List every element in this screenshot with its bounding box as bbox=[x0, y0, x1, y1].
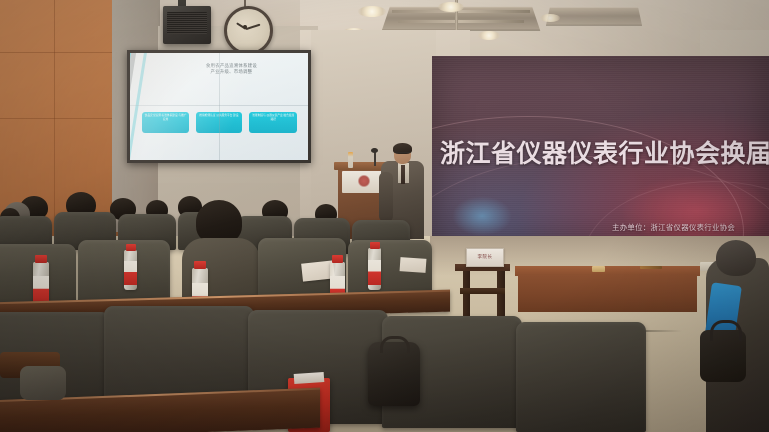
attendee-right-head bbox=[716, 240, 756, 276]
ceiling-audio-speaker bbox=[163, 6, 211, 44]
table-item-notebook bbox=[592, 266, 605, 272]
wall-seam bbox=[0, 52, 120, 53]
presenter-arm bbox=[379, 172, 393, 222]
bottle-cap bbox=[35, 255, 47, 263]
ceiling-downlight bbox=[438, 2, 464, 12]
floor-cable bbox=[640, 330, 682, 332]
water-bottle bbox=[124, 250, 137, 290]
ceiling-downlight bbox=[478, 31, 500, 40]
lectern-bottle bbox=[348, 152, 353, 168]
ceiling-downlight bbox=[540, 14, 560, 22]
bottle-label bbox=[124, 261, 137, 285]
bottle-cap bbox=[194, 261, 206, 269]
water-bottle bbox=[368, 248, 381, 290]
banner-subtitle-line1: 主办单位：浙江省仪器仪表行业协会 bbox=[612, 222, 735, 233]
gift-bag-tissue bbox=[294, 372, 325, 384]
lectern-emblem bbox=[358, 175, 370, 187]
delegate-name-card: 李院长 bbox=[466, 248, 504, 267]
chair-front-row bbox=[516, 322, 646, 432]
conference-hall-photo: 食用农产品追溯体系建设 产业升级、市场调整 食品安全追溯 标准体系建设 与推广应… bbox=[0, 0, 769, 432]
screen-glare bbox=[130, 53, 308, 160]
bottle-cap bbox=[126, 244, 136, 251]
bottle-label bbox=[368, 260, 381, 285]
clock-minute-hand bbox=[246, 24, 261, 30]
side-desk-brace bbox=[460, 288, 505, 294]
stage-backdrop-banner: 浙江省仪器仪表行业协会换届暨智 主办单位：浙江省仪器仪表行业协会 承办单位：中国… bbox=[432, 56, 769, 244]
presenter-glasses bbox=[395, 152, 410, 156]
backpack bbox=[368, 342, 420, 406]
bottle-cap bbox=[370, 242, 380, 249]
projection-screen-frame: 食用农产品追溯体系建设 产业升级、市场调整 食品安全追溯 标准体系建设 与推广应… bbox=[127, 50, 311, 163]
bottle-label bbox=[33, 276, 49, 304]
projection-screen[interactable]: 食用农产品追溯体系建设 产业升级、市场调整 食品安全追溯 标准体系建设 与推广应… bbox=[130, 53, 308, 160]
ceiling-truss-bar bbox=[392, 10, 530, 13]
clock-center bbox=[243, 25, 247, 29]
ceiling-downlight bbox=[358, 6, 386, 17]
ceiling-truss bbox=[546, 7, 642, 25]
presenter-tie bbox=[401, 165, 405, 184]
bag-strap bbox=[710, 320, 742, 341]
speaker-grille bbox=[167, 12, 207, 34]
microphone-stem bbox=[374, 152, 376, 166]
bottle-cap bbox=[332, 255, 343, 263]
table-item-pen bbox=[640, 266, 662, 269]
paper-document bbox=[400, 257, 427, 273]
bag-right bbox=[700, 330, 746, 382]
wall-seam bbox=[0, 118, 120, 119]
front-table-body bbox=[518, 274, 697, 312]
chair-cushion bbox=[20, 366, 66, 400]
name-card-text: 李院长 bbox=[467, 254, 503, 260]
backpack-strap bbox=[380, 336, 410, 353]
banner-title: 浙江省仪器仪表行业协会换届暨智 bbox=[440, 134, 769, 170]
ceiling-truss-bar bbox=[398, 20, 524, 23]
wall-panel-orange bbox=[0, 0, 120, 236]
microphone-head bbox=[371, 148, 378, 153]
wall-clock bbox=[224, 6, 273, 55]
